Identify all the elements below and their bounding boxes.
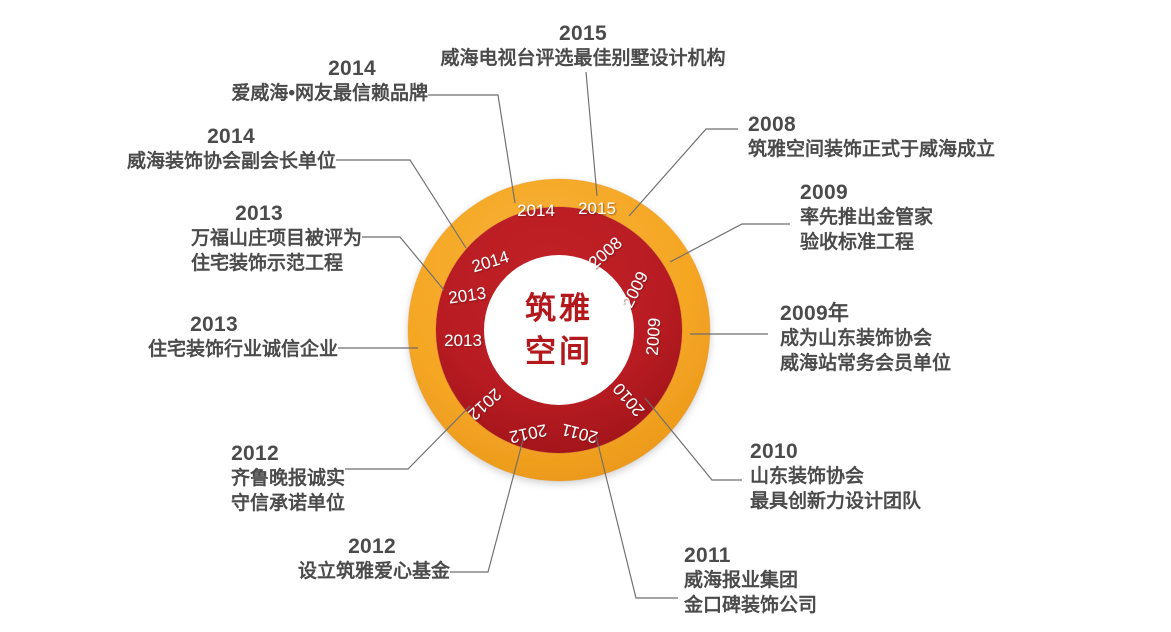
callout-line: 山东装饰协会 (750, 465, 1110, 490)
callout-line: 住宅装饰行业诚信企业 (0, 338, 338, 363)
callout-year: 2010 (750, 438, 1110, 465)
callout-line: 验收标准工程 (800, 231, 1160, 256)
callout-2014-xiehui: 2014 威海装饰协会副会长单位 (0, 123, 336, 175)
callout-2015: 2015 威海电视台评选最佳别墅设计机构 (383, 20, 783, 72)
callout-2013-chengxin: 2013 住宅装饰行业诚信企业 (0, 311, 338, 363)
callout-year: 2011 (684, 542, 1044, 569)
callout-year: 2014 (28, 55, 428, 82)
callout-2013-wanfu: 2013 万福山庄项目被评为 住宅装饰示范工程 (0, 200, 362, 277)
callout-2011: 2011 威海报业集团 金口碑装饰公司 (684, 542, 1044, 619)
callout-line: 住宅装饰示范工程 (0, 252, 362, 277)
callout-line: 成为山东装饰协会 (780, 327, 1140, 352)
inner-ring-label-2013-a: 2013 (444, 331, 482, 350)
callout-line: 威海站常务会员单位 (780, 352, 1140, 377)
outer-ring-label-2015: 2015 (578, 199, 616, 218)
callout-line: 最具创新力设计团队 (750, 490, 1110, 515)
callout-line: 威海电视台评选最佳别墅设计机构 (383, 47, 783, 72)
callout-line: 筑雅空间装饰正式于威海成立 (748, 138, 1168, 163)
callout-2010: 2010 山东装饰协会 最具创新力设计团队 (750, 438, 1110, 515)
center-brand-line2: 空间 (489, 331, 629, 374)
leader-2015 (586, 72, 597, 196)
callout-year: 2012 (0, 440, 345, 467)
callout-line: 威海报业集团 (684, 569, 1044, 594)
callout-2009-shandong: 2009年 成为山东装饰协会 威海站常务会员单位 (780, 300, 1140, 377)
leader-2014-aiweihai (428, 95, 515, 203)
callout-line: 金口碑装饰公司 (684, 594, 1044, 619)
callout-line: 威海装饰协会副会长单位 (0, 150, 336, 175)
callout-2012-jijin: 2012 设立筑雅爱心基金 (0, 533, 450, 585)
callout-year: 2015 (383, 20, 783, 47)
callout-year: 2009年 (780, 300, 1140, 327)
callout-2012-qilu: 2012 齐鲁晚报诚实 守信承诺单位 (0, 440, 345, 517)
callout-year: 2008 (748, 111, 1168, 138)
callout-year: 2013 (0, 311, 338, 338)
callout-2009-jinguanjia: 2009 率先推出金管家 验收标准工程 (800, 179, 1160, 256)
center-brand-line1: 筑雅 (489, 288, 629, 331)
callout-line: 齐鲁晚报诚实 (0, 467, 345, 492)
center-brand-label: 筑雅 空间 (489, 288, 629, 374)
callout-line: 设立筑雅爱心基金 (0, 560, 450, 585)
leader-2008 (629, 129, 738, 216)
callout-year: 2009 (800, 179, 1160, 206)
callout-2014-aiweihai: 2014 爱威海•网友最信赖品牌 (28, 55, 428, 107)
callout-line: 率先推出金管家 (800, 206, 1160, 231)
callout-line: 万福山庄项目被评为 (0, 227, 362, 252)
callout-line: 爱威海•网友最信赖品牌 (28, 82, 428, 107)
callout-2008: 2008 筑雅空间装饰正式于威海成立 (748, 111, 1168, 163)
outer-ring-label-2014: 2014 (517, 201, 555, 220)
inner-ring-label-2009-b: 2009 (643, 317, 665, 356)
infographic-canvas: 2014 2015 2008 2009 2009 2010 2011 2012 … (0, 0, 1171, 632)
callout-year: 2012 (0, 533, 450, 560)
callout-year: 2013 (0, 200, 362, 227)
callout-line: 守信承诺单位 (0, 492, 345, 517)
callout-year: 2014 (0, 123, 336, 150)
